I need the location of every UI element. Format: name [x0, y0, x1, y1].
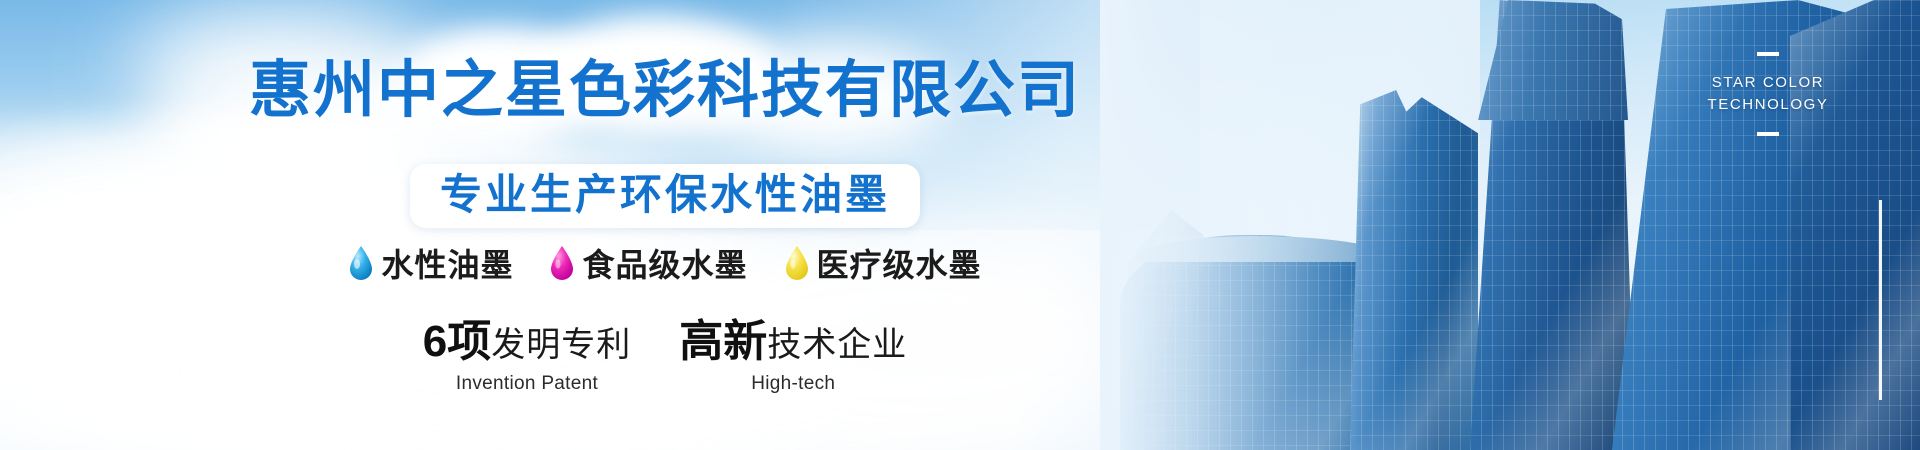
- feature-list: 水性油墨 食品级水墨: [0, 240, 1330, 286]
- promotional-banner: STAR COLOR TECHNOLOGY Star Color 惠州中之星色彩…: [0, 0, 1920, 450]
- subtitle-pill: 专业生产环保水性油墨: [410, 164, 920, 228]
- water-drop-icon: [784, 245, 810, 281]
- feature-item-water-based-ink: 水性油墨: [348, 240, 513, 286]
- water-drop-icon: [549, 245, 575, 281]
- badge-strong-text: 6项: [423, 317, 491, 366]
- badge-english-text: High-tech: [679, 373, 907, 395]
- logo-line-2: TECHNOLOGY: [1668, 94, 1868, 116]
- credential-badges: 6项发明专利 Invention Patent 高新技术企业 High-tech: [0, 320, 1330, 395]
- subtitle-text: 专业生产环保水性油墨: [440, 172, 890, 217]
- logo-dash-bottom-icon: [1757, 132, 1779, 136]
- feature-label: 医疗级水墨: [817, 240, 982, 286]
- page-title: 惠州中之星色彩科技有限公司: [0, 60, 1330, 122]
- badge-english-text: Invention Patent: [423, 373, 631, 395]
- badge-high-tech: 高新技术企业 High-tech: [679, 320, 907, 395]
- badge-strong-text: 高新: [679, 317, 767, 366]
- badge-rest-text: 发明专利: [491, 326, 631, 364]
- star-color-logo: STAR COLOR TECHNOLOGY: [1668, 52, 1868, 136]
- feature-item-food-grade-ink: 食品级水墨: [549, 240, 747, 286]
- feature-item-medical-grade-ink: 医疗级水墨: [784, 240, 982, 286]
- logo-line-1: STAR COLOR: [1668, 72, 1868, 94]
- badge-invention-patent: 6项发明专利 Invention Patent: [423, 320, 631, 395]
- water-drop-icon: [348, 245, 374, 281]
- feature-label: 水性油墨: [381, 240, 513, 286]
- badge-rest-text: 技术企业: [767, 326, 907, 364]
- building-round-tower: [1350, 90, 1478, 450]
- logo-dash-top-icon: [1757, 52, 1779, 56]
- logo-text: STAR COLOR TECHNOLOGY: [1668, 72, 1868, 116]
- feature-label: 食品级水墨: [582, 240, 747, 286]
- banner-content: 惠州中之星色彩科技有限公司 专业生产环保水性油墨 水性油墨: [0, 0, 1330, 450]
- logo-vertical-rule: [1879, 200, 1882, 400]
- badge-title: 6项发明专利: [423, 320, 631, 364]
- badge-title: 高新技术企业: [679, 320, 907, 364]
